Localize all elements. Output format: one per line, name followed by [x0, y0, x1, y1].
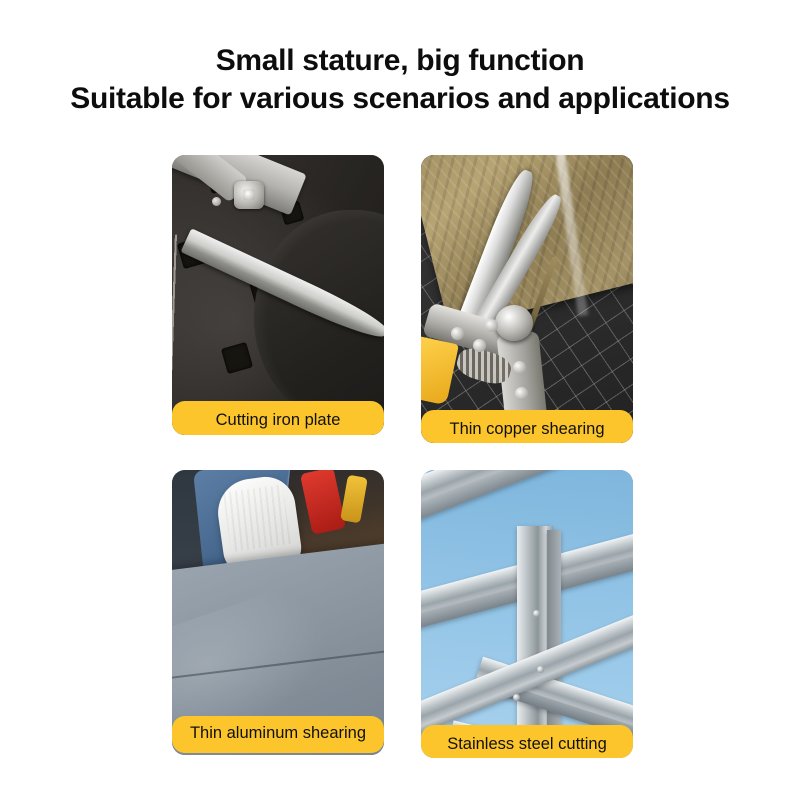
shear-stud [485, 319, 498, 332]
feature-card-cutting-iron-plate[interactable]: Cutting iron plate [172, 155, 384, 435]
headline-line-2: Suitable for various scenarios and appli… [0, 80, 800, 118]
photo-thin-aluminum-shearing: Thin aluminum shearing [172, 470, 384, 755]
shear-pivot-bolt [495, 305, 533, 341]
shear-stud [513, 361, 526, 374]
page-headline: Small stature, big function Suitable for… [0, 42, 800, 118]
frame-bolt [513, 694, 520, 701]
feature-card-grid: Cutting iron plate [172, 155, 634, 770]
caption-thin-copper-shearing: Thin copper shearing [421, 410, 633, 443]
feature-card-stainless-steel-cutting[interactable]: Stainless steel cutting [421, 470, 633, 758]
photo-image-copper-shearing [421, 155, 633, 443]
shear-rivet [212, 197, 221, 206]
shear-stud [515, 387, 528, 400]
feature-card-thin-aluminum-shearing[interactable]: Thin aluminum shearing [172, 470, 384, 755]
photo-image-aluminum-shearing [172, 470, 384, 755]
photo-image-iron-plate [172, 155, 384, 435]
shear-pivot-bolt [234, 181, 264, 209]
shear-stud [451, 327, 464, 340]
frame-bolt [537, 666, 544, 673]
photo-stainless-steel-cutting: Stainless steel cutting [421, 470, 633, 758]
headline-line-1: Small stature, big function [0, 42, 800, 80]
caption-cutting-iron-plate: Cutting iron plate [172, 401, 384, 435]
frame-bolt [533, 610, 540, 617]
shear-stud [473, 339, 486, 352]
caption-thin-aluminum-shearing: Thin aluminum shearing [172, 716, 384, 753]
photo-thin-copper-shearing: Thin copper shearing [421, 155, 633, 443]
caption-stainless-steel-cutting: Stainless steel cutting [421, 725, 633, 758]
photo-image-steel-frame [421, 470, 633, 758]
photo-cutting-iron-plate: Cutting iron plate [172, 155, 384, 435]
feature-card-thin-copper-shearing[interactable]: Thin copper shearing [421, 155, 633, 443]
